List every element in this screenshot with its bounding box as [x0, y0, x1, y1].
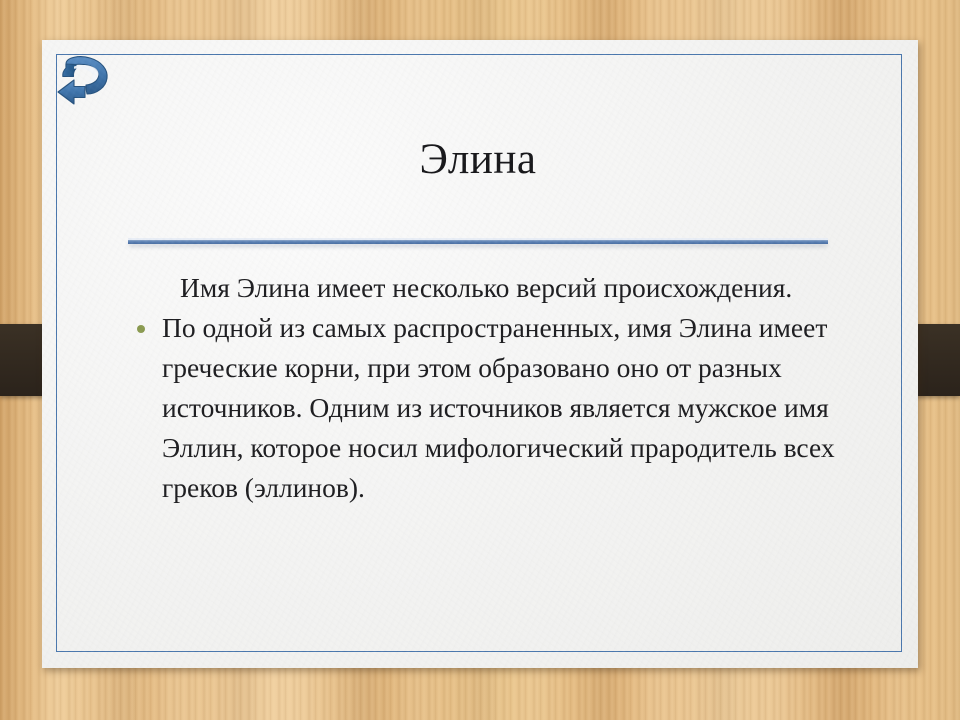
page-title: Элина: [128, 136, 828, 183]
body-paragraph-bulleted: По одной из самых распространенных, имя …: [128, 308, 858, 508]
paragraph-text: По одной из самых распространенных, имя …: [162, 312, 835, 503]
slide-card: Элина Имя Элина имеет несколько версий п…: [42, 40, 918, 668]
body-paragraph-intro: Имя Элина имеет несколько версий происхо…: [128, 268, 858, 308]
title-divider: [128, 240, 828, 244]
paragraph-text: Имя Элина имеет несколько версий происхо…: [180, 272, 792, 303]
slide-body: Имя Элина имеет несколько версий происхо…: [128, 268, 858, 508]
bullet-dot-icon: [137, 325, 145, 333]
loop-arrow-icon: [52, 52, 114, 118]
